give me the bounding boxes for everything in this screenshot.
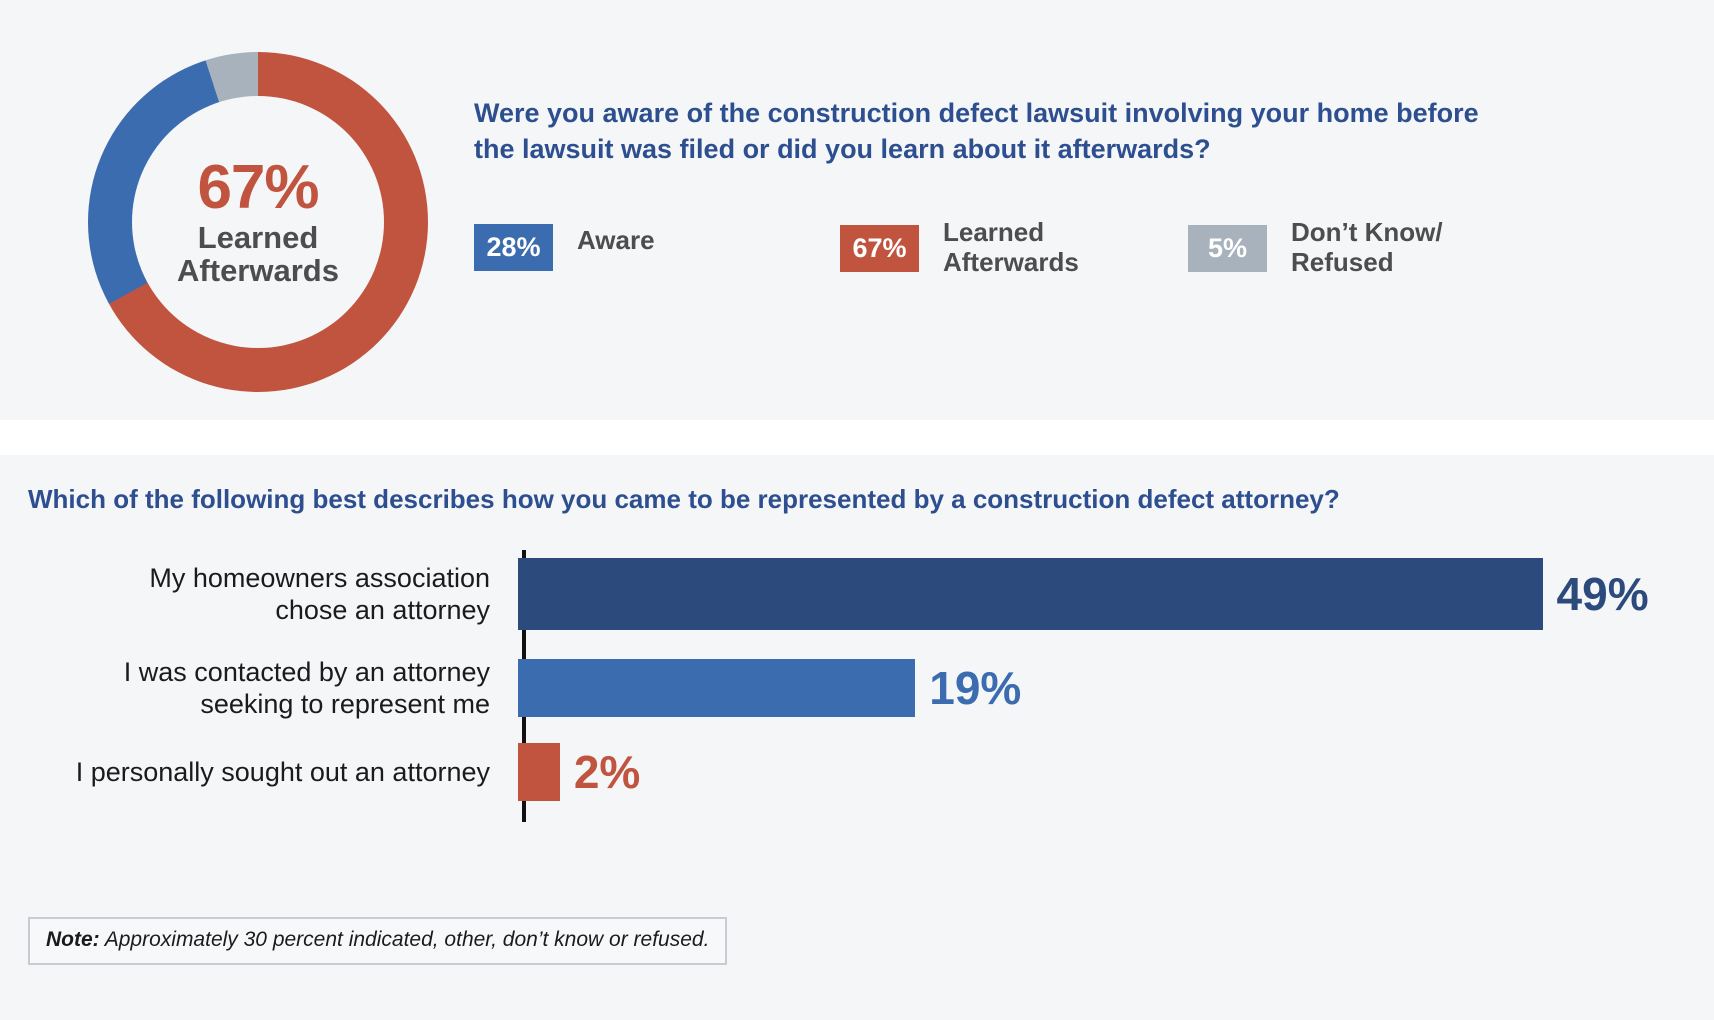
donut-chart: 67% LearnedAfterwards	[88, 52, 458, 392]
legend-swatch-dont-know-refused: 5%	[1188, 225, 1267, 272]
bar-fill	[518, 558, 1543, 630]
bar-row: I personally sought out an attorney 2%	[28, 738, 1668, 806]
panel1-legend: 28% Aware 67% LearnedAfterwards 5% Don’t…	[474, 212, 1574, 302]
donut-center: 67% LearnedAfterwards	[132, 96, 384, 348]
infographic-page: 67% LearnedAfterwards Were you aware of …	[0, 0, 1714, 1020]
bar-category-label: My homeowners associationchose an attorn…	[28, 562, 518, 627]
legend-label-learned-afterwards: LearnedAfterwards	[943, 216, 1079, 277]
bar-value-label: 19%	[929, 665, 1021, 711]
bar-fill	[518, 743, 560, 801]
panel2-question: Which of the following best describes ho…	[28, 483, 1648, 517]
panel-awareness: 67% LearnedAfterwards Were you aware of …	[0, 0, 1714, 455]
legend-label-dont-know-refused: Don’t Know/Refused	[1291, 216, 1443, 277]
bar-value-label: 2%	[574, 749, 640, 795]
bar-track: 19%	[518, 659, 1668, 717]
bar-track: 49%	[518, 558, 1668, 630]
bar-category-label: I was contacted by an attorneyseeking to…	[28, 656, 518, 721]
panel-representation: Which of the following best describes ho…	[0, 455, 1714, 1020]
bar-track: 2%	[518, 743, 1668, 801]
legend-label-aware: Aware	[577, 224, 655, 255]
bar-category-label: I personally sought out an attorney	[28, 756, 518, 788]
bar-row: I was contacted by an attorneyseeking to…	[28, 654, 1668, 722]
bar-value-label: 49%	[1557, 571, 1649, 617]
panel-divider	[0, 420, 1714, 455]
legend-item-aware: 28% Aware	[474, 224, 655, 271]
chart-note-prefix: Note:	[46, 928, 100, 951]
donut-center-value: 67%	[197, 157, 318, 219]
bar-fill	[518, 659, 915, 717]
bar-row: My homeowners associationchose an attorn…	[28, 550, 1668, 638]
chart-note-text: Approximately 30 percent indicated, othe…	[105, 928, 710, 951]
panel1-question: Were you aware of the construction defec…	[474, 96, 1514, 167]
legend-swatch-aware: 28%	[474, 224, 553, 271]
legend-item-dont-know-refused: 5% Don’t Know/Refused	[1188, 216, 1443, 277]
legend-item-learned-afterwards: 67% LearnedAfterwards	[840, 216, 1079, 277]
donut-center-label: LearnedAfterwards	[177, 221, 339, 288]
chart-note: Note: Approximately 30 percent indicated…	[28, 917, 727, 965]
bar-chart: My homeowners associationchose an attorn…	[28, 550, 1668, 840]
legend-swatch-learned-afterwards: 67%	[840, 225, 919, 272]
